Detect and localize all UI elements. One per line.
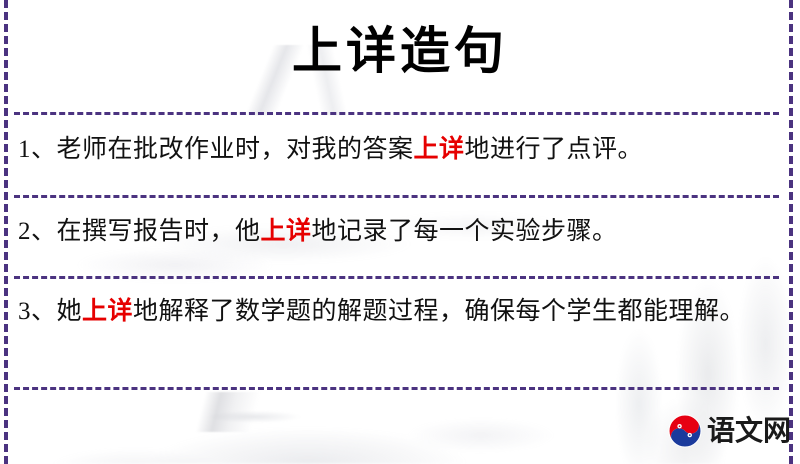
sentence-3-after: 地解释了数学题的解题过程，确保每个学生都能理解。	[133, 298, 745, 325]
watermark-bottom-mountain	[20, 334, 660, 464]
worksheet-page: 上详造句 1、老师在批改作业时，对我的答案上详地进行了点评。 2、在撰写报告时，…	[0, 0, 800, 464]
sentence-3-keyword: 上详	[82, 298, 133, 325]
sentence-1-before: 老师在批改作业时，对我的答案	[57, 136, 414, 163]
sentence-2-after: 地记录了每一个实验步骤。	[312, 218, 618, 245]
sentence-1-keyword: 上详	[414, 136, 465, 163]
example-sentence-2: 2、在撰写报告时，他上详地记录了每一个实验步骤。	[18, 208, 770, 255]
logo-text: 语文网	[707, 416, 791, 446]
page-title: 上详造句	[0, 16, 800, 86]
separator-above-sentence-2	[14, 195, 779, 198]
separator-above-sentence-1	[14, 112, 779, 115]
sentence-3-number: 3、	[18, 298, 57, 325]
sentence-1-after: 地进行了点评。	[465, 136, 644, 163]
example-sentence-3: 3、她上详地解释了数学题的解题过程，确保每个学生都能理解。	[18, 288, 770, 335]
sentence-1-number: 1、	[18, 136, 57, 163]
separator-below-sentence-3	[14, 387, 779, 390]
watermark-boat	[118, 392, 338, 432]
yinyang-circle-icon	[668, 414, 702, 448]
right-dashed-border	[789, 0, 793, 464]
site-logo[interactable]: 语文网	[668, 414, 791, 448]
left-dashed-border	[4, 0, 8, 464]
sentence-2-keyword: 上详	[261, 218, 312, 245]
sentence-2-before: 在撰写报告时，他	[57, 218, 261, 245]
example-sentence-1: 1、老师在批改作业时，对我的答案上详地进行了点评。	[18, 126, 770, 173]
separator-above-sentence-3	[14, 276, 779, 279]
sentence-3-before: 她	[57, 298, 83, 325]
sentence-2-number: 2、	[18, 218, 57, 245]
